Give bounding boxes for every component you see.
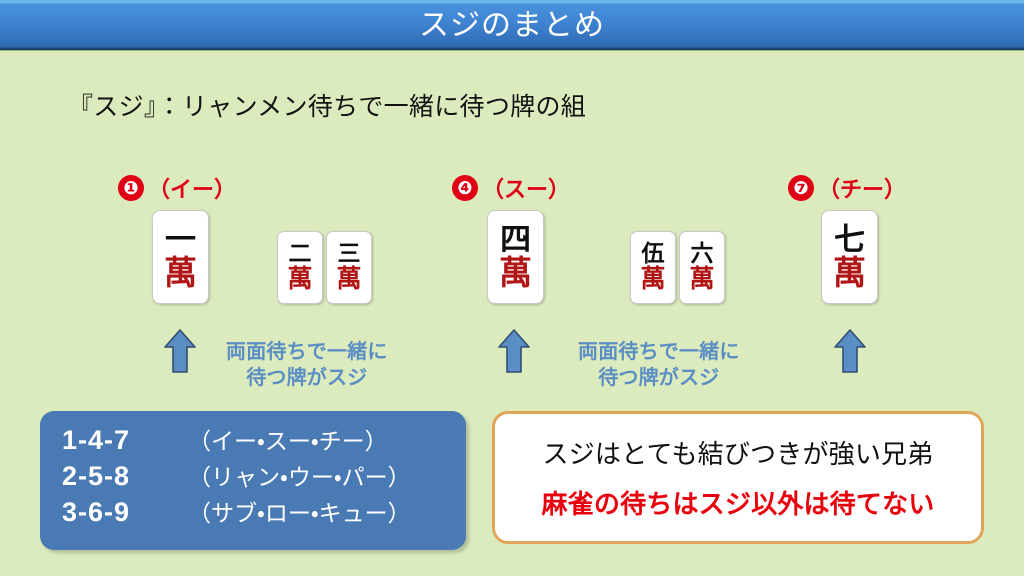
up-arrow-icon — [833, 328, 867, 374]
tile-suit-glyph: 萬 — [689, 267, 714, 292]
tile-number-glyph: 一 — [165, 225, 196, 255]
arrow-caption-line-2: 待つ牌がスジ — [578, 366, 740, 392]
group-label-4: ❹ （スー） — [452, 172, 570, 204]
arrow-caption-right: 両面待ちで一緒に 待つ牌がスジ — [578, 340, 740, 391]
mahjong-tile-6-man: 六 萬 — [679, 231, 725, 304]
tile-suit-glyph: 萬 — [499, 257, 532, 289]
suji-list-row: 2-5-8 （リャン・ウー・パー） — [62, 458, 466, 492]
tile-suit-glyph: 萬 — [287, 267, 312, 292]
slide-title: スジのまとめ — [419, 11, 605, 41]
tile-number-glyph: 三 — [338, 243, 361, 266]
suji-kana: （イー・スー・チー） — [188, 422, 388, 456]
mahjong-tile-3-man: 三 萬 — [326, 231, 372, 304]
number-badge-4-icon: ❹ — [452, 175, 478, 201]
definition-text: 『スジ』：リャンメン待ちで一緒に待つ牌の組 — [68, 87, 586, 123]
group-kana-7: （チー） — [818, 172, 906, 204]
arrow-caption-line-2: 待つ牌がスジ — [226, 366, 388, 392]
group-label-7: ❼ （チー） — [788, 172, 906, 204]
tile-number-glyph: 六 — [691, 243, 714, 266]
tile-suit-glyph: 萬 — [336, 267, 361, 292]
arrow-caption-line-1: 両面待ちで一緒に — [226, 340, 388, 366]
up-arrow-icon — [497, 328, 531, 374]
suji-list-row: 3-6-9 （サブ・ロー・キュー） — [62, 494, 466, 528]
tile-suit-glyph: 萬 — [833, 257, 866, 289]
suji-kana: （サブ・ロー・キュー） — [188, 494, 411, 528]
up-arrow-icon — [163, 328, 197, 374]
tile-number-glyph: 七 — [834, 225, 865, 255]
arrow-caption-left: 両面待ちで一緒に 待つ牌がスジ — [226, 340, 388, 391]
tile-number-glyph: 四 — [500, 225, 531, 255]
tile-suit-glyph: 萬 — [164, 257, 197, 289]
suji-numbers: 1-4-7 — [62, 425, 188, 456]
suji-kana: （リャン・ウー・パー） — [188, 458, 411, 492]
group-kana-4: （スー） — [482, 172, 570, 204]
suji-list-row: 1-4-7 （イー・スー・チー） — [62, 422, 466, 456]
note-line-1: スジはとても結びつきが強い兄弟 — [543, 434, 934, 471]
number-badge-1-icon: ❶ — [118, 175, 144, 201]
slide-canvas: スジのまとめ 『スジ』：リャンメン待ちで一緒に待つ牌の組 ❶ （イー） ❹ （ス… — [0, 0, 1024, 576]
mahjong-tile-4-man: 四 萬 — [487, 210, 544, 304]
mahjong-tile-5-man: 伍 萬 — [630, 231, 676, 304]
suji-numbers: 3-6-9 — [62, 497, 188, 528]
mahjong-tile-1-man: 一 萬 — [152, 210, 209, 304]
tile-number-glyph: 伍 — [642, 243, 665, 266]
number-badge-7-icon: ❼ — [788, 175, 814, 201]
mahjong-tile-7-man: 七 萬 — [821, 210, 878, 304]
note-line-2: 麻雀の待ちはスジ以外は待てない — [541, 484, 934, 521]
suji-list-box: 1-4-7 （イー・スー・チー） 2-5-8 （リャン・ウー・パー） 3-6-9… — [40, 411, 466, 550]
group-kana-1: （イー） — [148, 172, 236, 204]
group-label-1: ❶ （イー） — [118, 172, 236, 204]
arrow-caption-line-1: 両面待ちで一緒に — [578, 340, 740, 366]
mahjong-tile-2-man: 二 萬 — [277, 231, 323, 304]
tile-number-glyph: 二 — [289, 243, 312, 266]
slide-title-bar: スジのまとめ — [0, 0, 1024, 50]
suji-numbers: 2-5-8 — [62, 461, 188, 492]
note-box: スジはとても結びつきが強い兄弟 麻雀の待ちはスジ以外は待てない — [492, 411, 984, 544]
tile-suit-glyph: 萬 — [640, 267, 665, 292]
